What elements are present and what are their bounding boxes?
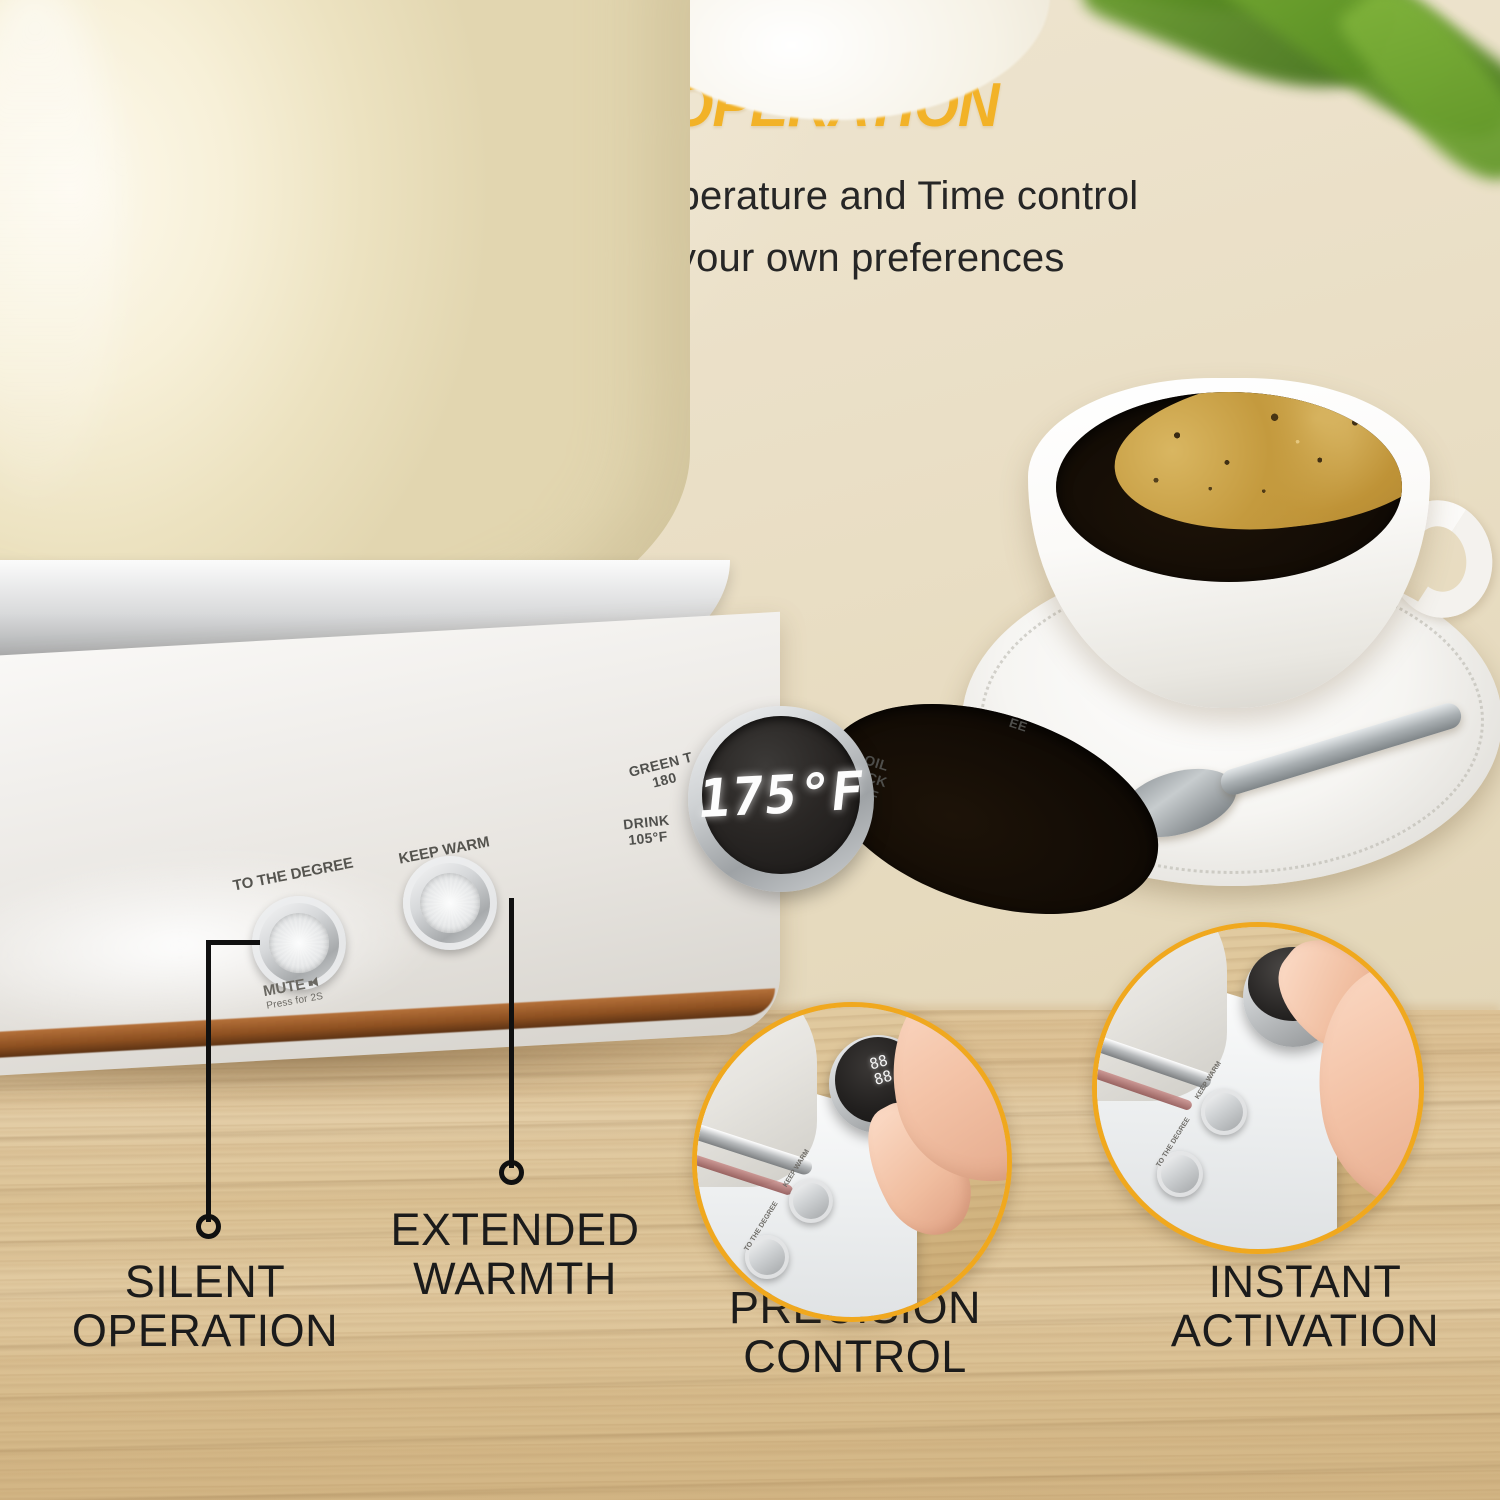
callout-silent-operation: SILENT OPERATION xyxy=(40,1258,370,1355)
button-cap xyxy=(269,913,329,973)
callout-instant-line-1: INSTANT xyxy=(1120,1258,1490,1307)
temperature-control-knob[interactable]: 175°F xyxy=(688,706,874,892)
callout-extended-warmth: EXTENDED WARMTH xyxy=(360,1206,670,1303)
callout-extended-line-1: EXTENDED xyxy=(360,1206,670,1255)
callout-silent-line-1: SILENT xyxy=(40,1258,370,1307)
callout-leader-line-silent xyxy=(206,940,211,1222)
preset-label-drink: DRINK 105°F xyxy=(622,812,671,849)
callout-marker-silent xyxy=(196,1214,221,1239)
callout-extended-line-2: WARMTH xyxy=(360,1255,670,1304)
callout-precision-line-2: CONTROL xyxy=(690,1333,1020,1382)
product-marketing-image: EASY OPERATION Precise Hold Temperature … xyxy=(0,0,1500,1500)
callout-instant-activation: INSTANT ACTIVATION xyxy=(1120,1258,1490,1355)
callout-instant-line-2: ACTIVATION xyxy=(1120,1307,1490,1356)
callout-leader-line-silent xyxy=(206,940,260,945)
callout-marker-extended xyxy=(499,1160,524,1185)
button-cap xyxy=(420,873,480,933)
keep-warm-button[interactable] xyxy=(403,856,497,950)
led-temperature-value: 175°F xyxy=(695,760,867,830)
coffee-crema-bubbles xyxy=(1106,392,1402,548)
callout-leader-line-extended xyxy=(509,898,514,1168)
speaker-icon xyxy=(307,976,322,989)
inset-instant-activation: KEEP WARM TO THE DEGREE xyxy=(1092,922,1424,1254)
inset-precision-control: 8888 KEEP WARM TO THE DEGREE xyxy=(692,1002,1012,1322)
led-display: 175°F xyxy=(702,716,860,874)
callout-silent-line-2: OPERATION xyxy=(40,1307,370,1356)
inset-keep-warm-button xyxy=(1201,1089,1247,1135)
coffee-liquid xyxy=(1056,392,1402,582)
inset-keep-warm-button xyxy=(789,1179,833,1223)
